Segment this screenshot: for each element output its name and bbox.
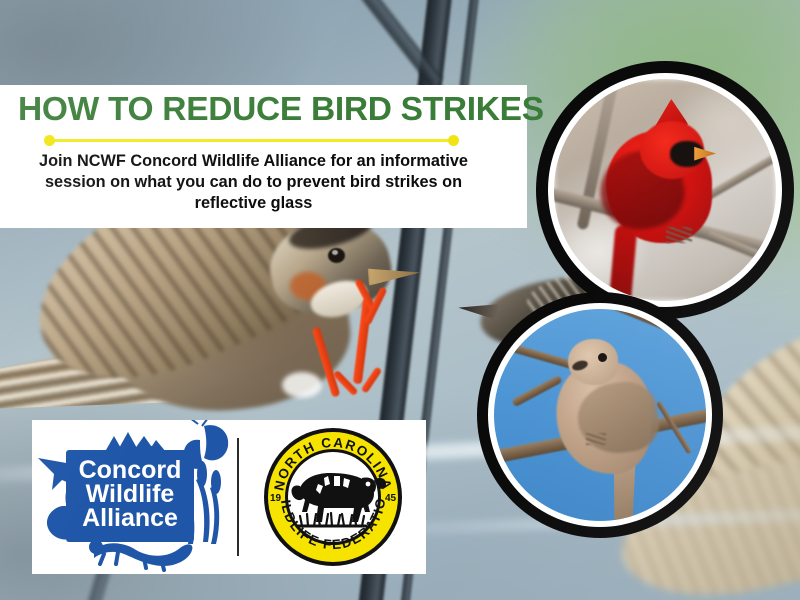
dove-photo [494, 309, 706, 521]
cardinal-foot [666, 227, 692, 243]
sparrow-eye-shine [332, 250, 338, 255]
page-title: HOW TO REDUCE BIRD STRIKES [18, 93, 505, 127]
cardinal-photo [554, 79, 776, 301]
ncwf-seal-artwork: NORTH CAROLINA WILDLIFE FEDERATION 19 45 [262, 426, 404, 568]
glass-highlight [282, 372, 322, 398]
event-description: Join NCWF Concord Wildlife Alliance for … [18, 151, 505, 214]
cardinal-white-ring [548, 73, 782, 307]
dove-eye [598, 353, 607, 362]
divider-dot-right [448, 135, 459, 146]
cwa-logo-artwork: Concord Wildlife Alliance [32, 420, 237, 574]
divider-line [49, 139, 454, 143]
sparrow-photo [0, 200, 450, 440]
dove-white-ring [488, 303, 712, 527]
cwa-line-3: Alliance [82, 504, 178, 532]
divider-dot-left [44, 135, 55, 146]
yellow-divider [44, 135, 459, 145]
ncwf-year-right: 45 [384, 493, 396, 504]
bird-strikes-poster: HOW TO REDUCE BIRD STRIKES Join NCWF Con… [0, 0, 800, 600]
sparrow-toe-4 [361, 366, 382, 393]
headline-panel: HOW TO REDUCE BIRD STRIKES Join NCWF Con… [0, 85, 527, 228]
logo-bar: Concord Wildlife Alliance [32, 420, 426, 574]
dove-foot [586, 433, 606, 445]
ncwf-year-left: 19 [269, 493, 281, 504]
dove-photo-circle [477, 292, 723, 538]
ncwf-seal-logo: NORTH CAROLINA WILDLIFE FEDERATION 19 45 [239, 420, 426, 574]
concord-wildlife-alliance-logo: Concord Wildlife Alliance [32, 420, 237, 574]
cardinal-photo-circle [536, 61, 794, 319]
